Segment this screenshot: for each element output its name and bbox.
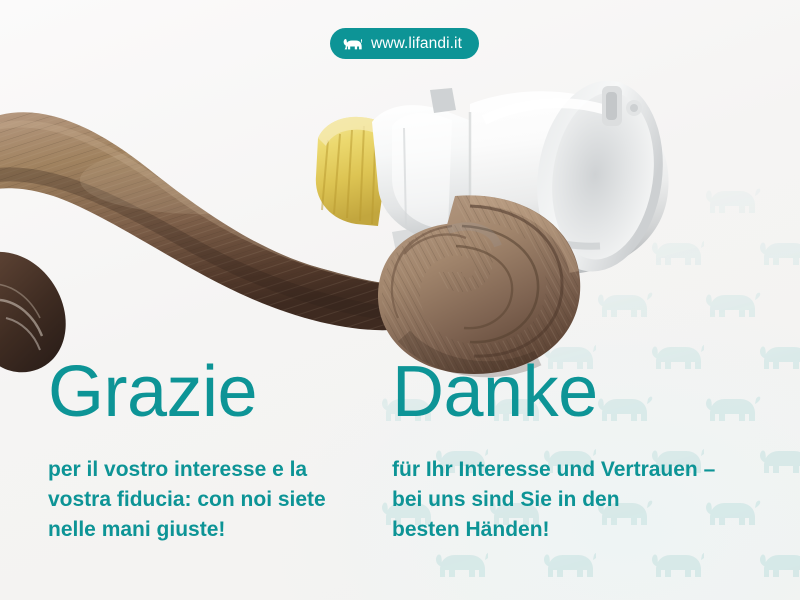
german-body-line-2: bei uns sind Sie in den — [392, 485, 752, 515]
german-headline: Danke — [392, 356, 752, 428]
italian-body-text: per il vostro interesse e la vostra fidu… — [48, 455, 368, 545]
elephant-icon — [343, 36, 362, 51]
german-body-text: für Ihr Interesse und Vertrauen – bei un… — [392, 455, 752, 545]
german-body-line-1: für Ihr Interesse und Vertrauen – — [392, 455, 752, 485]
italian-body-line-3: nelle mani giuste! — [48, 515, 368, 545]
website-badge[interactable]: www.lifandi.it — [330, 28, 479, 59]
german-body-line-3: besten Händen! — [392, 515, 752, 545]
italian-text-column: Grazie per il vostro interesse e la vost… — [48, 356, 368, 545]
website-url-label: www.lifandi.it — [371, 36, 462, 52]
poster-canvas: www.lifandi.it Grazie per il vostro inte… — [0, 0, 800, 600]
german-text-column: Danke für Ihr Interesse und Vertrauen – … — [392, 356, 752, 545]
italian-body-line-2: vostra fiducia: con noi siete — [48, 485, 368, 515]
italian-body-line-1: per il vostro interesse e la — [48, 455, 368, 485]
italian-headline: Grazie — [48, 356, 368, 428]
